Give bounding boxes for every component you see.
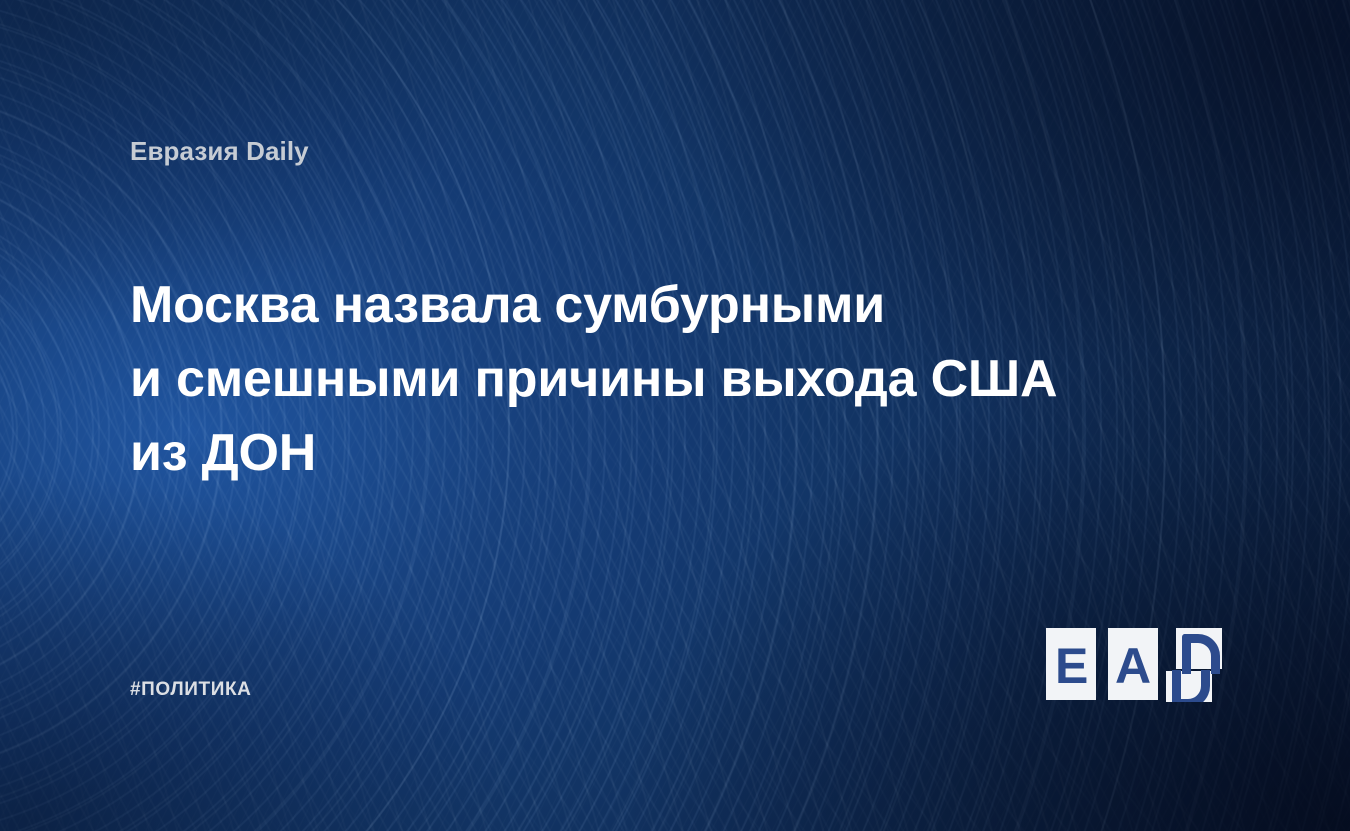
card-content: Евразия Daily Москва назвала сумбурными … <box>0 0 1350 831</box>
logo-letter-a: A <box>1115 641 1151 691</box>
logo-letter-e: E <box>1055 641 1088 691</box>
category-hashtag[interactable]: #ПОЛИТИКА <box>130 679 252 701</box>
headline-line-1: Москва назвала сумбурными <box>130 268 1130 342</box>
logo-letter-d-bottom-bowl <box>1172 670 1210 702</box>
headline-line-3: из ДОН <box>130 416 1130 490</box>
news-card: Евразия Daily Москва назвала сумбурными … <box>0 0 1350 831</box>
headline-line-2: и смешными причины выхода США <box>130 342 1130 416</box>
eadaily-logo[interactable]: E A <box>1046 628 1222 702</box>
site-name: Евразия Daily <box>130 136 309 167</box>
page-title: Москва назвала сумбурными и смешными при… <box>130 268 1130 490</box>
